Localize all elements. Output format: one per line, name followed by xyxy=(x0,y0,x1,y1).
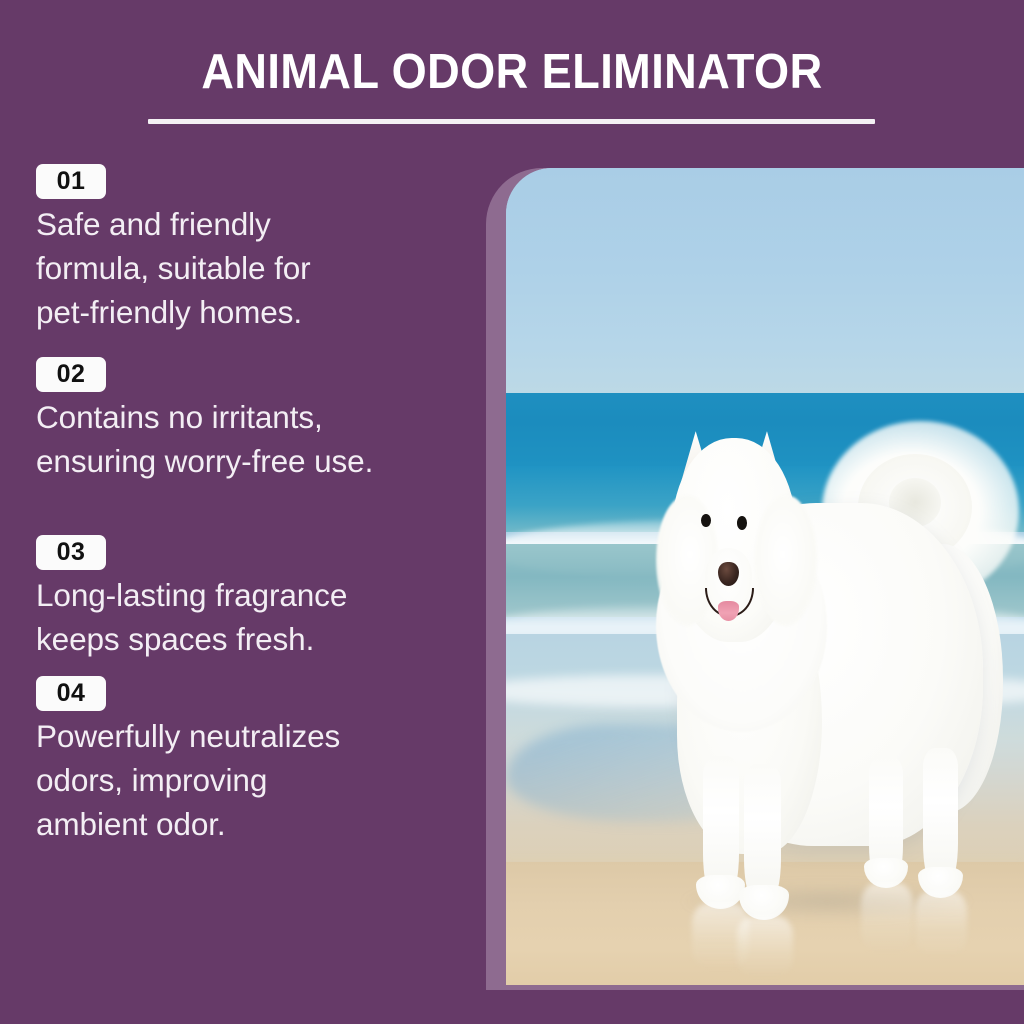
dog-leg-hind-right xyxy=(923,748,958,883)
feature-item: 03 Long-lasting fragrance keeps spaces f… xyxy=(36,535,466,661)
feature-item: 02 Contains no irritants, ensuring worry… xyxy=(36,357,466,483)
feature-text: Powerfully neutralizes odors, improving … xyxy=(36,714,466,846)
feature-number-badge: 02 xyxy=(36,357,106,392)
feature-text: Safe and friendly formula, suitable for … xyxy=(36,202,466,334)
feature-number-badge: 01 xyxy=(36,164,106,199)
beach-photo xyxy=(506,168,1024,985)
paw-reflection xyxy=(737,916,794,977)
feature-text: Contains no irritants, ensuring worry-fr… xyxy=(36,395,466,483)
feature-text: Long-lasting fragrance keeps spaces fres… xyxy=(36,573,466,661)
product-photo-card xyxy=(506,168,1024,985)
page-title: ANIMAL ODOR ELIMINATOR xyxy=(41,48,983,97)
paw-reflection xyxy=(915,891,967,956)
feature-item: 04 Powerfully neutralizes odors, improvi… xyxy=(36,676,466,846)
paw-reflection xyxy=(861,883,913,952)
dog-cheek-right xyxy=(755,495,817,626)
feature-item: 01 Safe and friendly formula, suitable f… xyxy=(36,164,466,334)
dog-leg-front-right xyxy=(744,764,780,899)
feature-number-badge: 04 xyxy=(36,676,106,711)
feature-number-badge: 03 xyxy=(36,535,106,570)
title-divider xyxy=(148,119,875,124)
samoyed-dog xyxy=(506,168,1024,985)
header-band: ANIMAL ODOR ELIMINATOR xyxy=(0,0,1024,150)
feature-list: 01 Safe and friendly formula, suitable f… xyxy=(0,155,470,885)
